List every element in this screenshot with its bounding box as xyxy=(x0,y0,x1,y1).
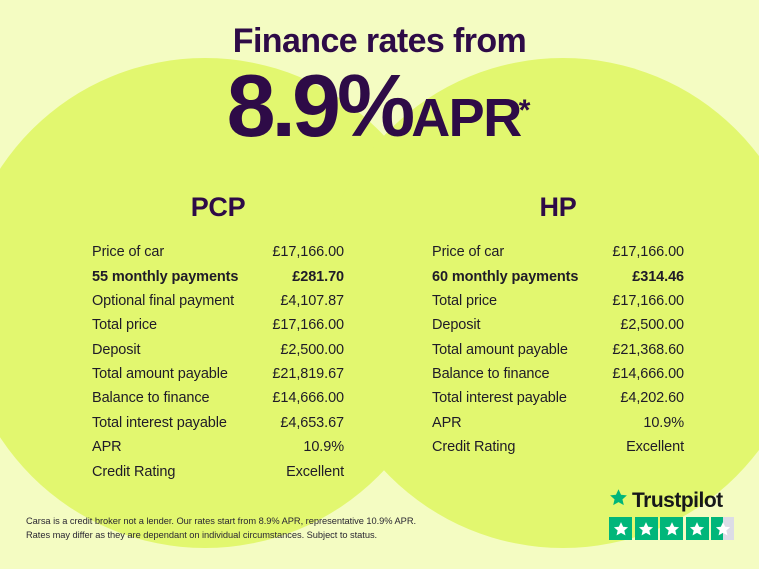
table-row: 60 monthly payments £314.46 xyxy=(418,264,698,288)
trustpilot-badge[interactable]: Trustpilot xyxy=(609,488,737,540)
trustpilot-star-icon xyxy=(609,488,628,512)
table-row: Price of car £17,166.00 xyxy=(78,240,358,264)
table-row: Total amount payable £21,368.60 xyxy=(418,338,698,362)
plan-title-hp: HP xyxy=(418,192,698,223)
table-row: Total interest payable £4,202.60 xyxy=(418,386,698,410)
row-value: £2,500.00 xyxy=(280,342,344,358)
row-label: Credit Rating xyxy=(432,439,515,455)
table-row: Deposit £2,500.00 xyxy=(78,338,358,362)
table-row: 55 monthly payments £281.70 xyxy=(78,264,358,288)
row-label: 55 monthly payments xyxy=(92,269,238,285)
promo-card: Finance rates from 8.9%APR* PCP Price of… xyxy=(0,0,759,569)
trustpilot-wordmark: Trustpilot xyxy=(609,488,737,512)
plan-rows-hp: Price of car £17,166.00 60 monthly payme… xyxy=(418,240,698,459)
disclaimer-line-2: Rates may differ as they are dependant o… xyxy=(26,528,446,542)
row-label: APR xyxy=(432,415,462,431)
row-value: £4,107.87 xyxy=(280,293,344,309)
row-value: £14,666.00 xyxy=(612,366,684,382)
row-label: Deposit xyxy=(92,342,140,358)
row-value: Excellent xyxy=(286,464,344,480)
disclaimer: Carsa is a credit broker not a lender. O… xyxy=(26,514,446,543)
table-row: APR 10.9% xyxy=(418,411,698,435)
row-value: £17,166.00 xyxy=(612,244,684,260)
table-row: Optional final payment £4,107.87 xyxy=(78,289,358,313)
table-row: Total interest payable £4,653.67 xyxy=(78,411,358,435)
table-row: Balance to finance £14,666.00 xyxy=(418,362,698,386)
row-label: Price of car xyxy=(92,244,164,260)
row-label: Balance to finance xyxy=(432,366,550,382)
headline-rate: 8.9%APR* xyxy=(0,62,759,150)
plan-table-hp: HP Price of car £17,166.00 60 monthly pa… xyxy=(418,192,698,459)
row-label: Credit Rating xyxy=(92,464,175,480)
row-label: 60 monthly payments xyxy=(432,269,578,285)
table-row: APR 10.9% xyxy=(78,435,358,459)
rate-footnote-asterisk: * xyxy=(519,94,531,127)
row-label: Total price xyxy=(92,317,157,333)
row-label: Optional final payment xyxy=(92,293,234,309)
row-label: Balance to finance xyxy=(92,390,210,406)
table-row: Total price £17,166.00 xyxy=(418,289,698,313)
row-value: £17,166.00 xyxy=(272,244,344,260)
row-value: £17,166.00 xyxy=(612,293,684,309)
table-row: Balance to finance £14,666.00 xyxy=(78,386,358,410)
row-label: Price of car xyxy=(432,244,504,260)
table-row: Deposit £2,500.00 xyxy=(418,313,698,337)
row-value: £2,500.00 xyxy=(620,317,684,333)
table-row: Total price £17,166.00 xyxy=(78,313,358,337)
row-value: £14,666.00 xyxy=(272,390,344,406)
row-value: £21,819.67 xyxy=(272,366,344,382)
row-label: Total interest payable xyxy=(432,390,567,406)
trustpilot-rating-stars xyxy=(609,517,737,540)
plan-title-pcp: PCP xyxy=(78,192,358,223)
rating-star-5-half xyxy=(711,517,734,540)
rating-star-3 xyxy=(660,517,683,540)
row-label: Total price xyxy=(432,293,497,309)
rating-star-2 xyxy=(635,517,658,540)
table-row: Price of car £17,166.00 xyxy=(418,240,698,264)
row-label: APR xyxy=(92,439,122,455)
row-label: Total amount payable xyxy=(432,342,568,358)
row-label: Total interest payable xyxy=(92,415,227,431)
row-label: Deposit xyxy=(432,317,480,333)
row-value: 10.9% xyxy=(643,415,684,431)
table-row: Credit Rating Excellent xyxy=(78,459,358,483)
trustpilot-name: Trustpilot xyxy=(632,490,723,511)
row-label: Total amount payable xyxy=(92,366,228,382)
plan-table-pcp: PCP Price of car £17,166.00 55 monthly p… xyxy=(78,192,358,484)
row-value: £281.70 xyxy=(292,269,344,285)
rating-star-4 xyxy=(686,517,709,540)
row-value: £4,202.60 xyxy=(620,390,684,406)
row-value: £17,166.00 xyxy=(272,317,344,333)
row-value: £21,368.60 xyxy=(612,342,684,358)
plan-rows-pcp: Price of car £17,166.00 55 monthly payme… xyxy=(78,240,358,484)
rate-unit: APR xyxy=(411,88,521,148)
rating-star-1 xyxy=(609,517,632,540)
row-value: £4,653.67 xyxy=(280,415,344,431)
row-value: £314.46 xyxy=(632,269,684,285)
rate-value: 8.9% xyxy=(227,56,412,155)
row-value: Excellent xyxy=(626,439,684,455)
table-row: Total amount payable £21,819.67 xyxy=(78,362,358,386)
table-row: Credit Rating Excellent xyxy=(418,435,698,459)
disclaimer-line-1: Carsa is a credit broker not a lender. O… xyxy=(26,514,446,528)
row-value: 10.9% xyxy=(303,439,344,455)
